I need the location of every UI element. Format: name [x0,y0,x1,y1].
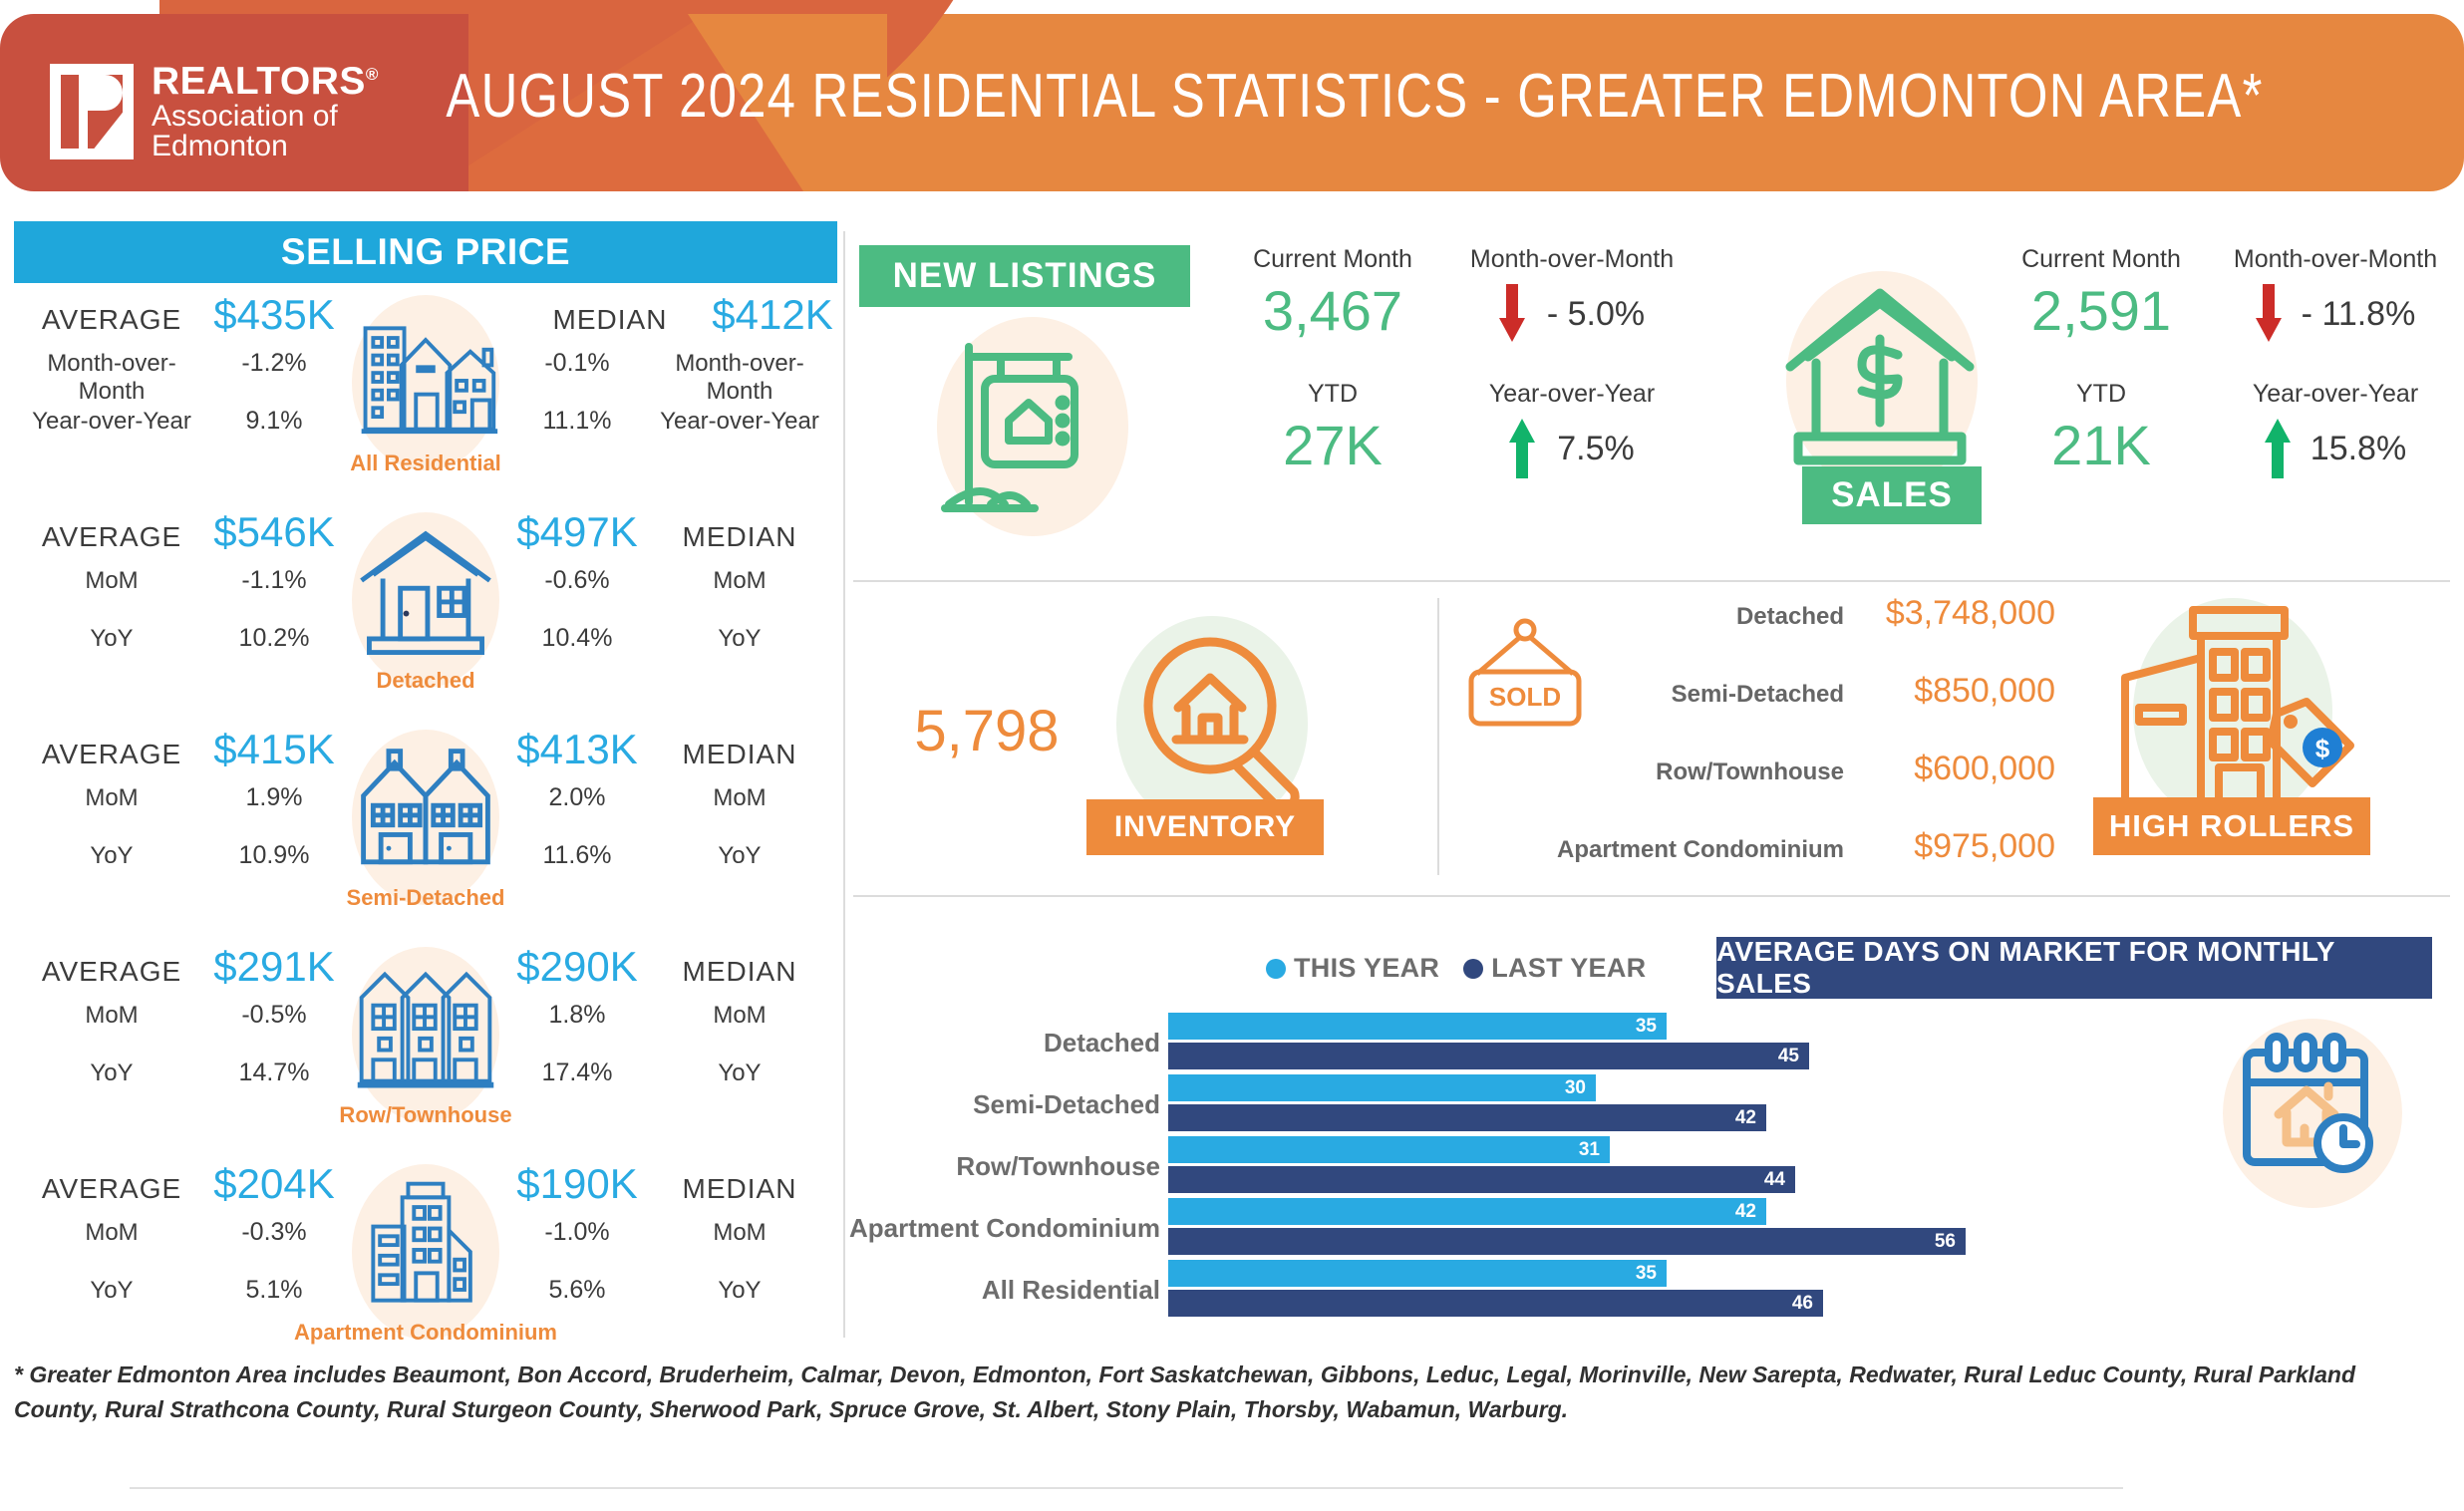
detached-house-icon [348,522,503,672]
logo-line-1: REALTORS [152,60,366,103]
new-listings-stats: Current Month 3,467 Month-over-Month - 5… [1218,245,1696,478]
new-listings-yoy-value: 7.5% [1557,430,1635,468]
average-yoy-label: YoY [14,842,209,870]
semi-detached-house-icon [348,740,503,889]
high-rollers-value: $3,748,000 [1844,594,2073,633]
median-yoy-value: 11.1% [512,407,642,436]
median-title: MEDIAN [642,521,837,553]
selling-price-panel: SELLING PRICE All Residen [14,221,837,1338]
median-mom-label: MoM [642,1219,837,1247]
apartment-building-icon [348,1174,503,1324]
median-yoy-label: YoY [642,1277,837,1305]
sales-mom-value: - 11.8% [2302,295,2416,334]
new-listings-mom-value: - 5.0% [1547,295,1645,334]
high-rollers-value: $600,000 [1844,750,2073,788]
bar-last-year: 46 [1168,1290,1823,1317]
average-mom-label: Month-over-Month [14,350,209,406]
median-column: MEDIAN$412K -0.1%Month-over-Month 11.1%Y… [508,291,837,464]
high-rollers-value: $850,000 [1844,672,2073,711]
inventory-badge: INVENTORY [1086,799,1324,855]
median-price: $190K [512,1160,642,1208]
average-mom-label: MoM [14,1002,209,1030]
median-yoy-label: Year-over-Year [642,408,837,436]
row-townhouse-icon [348,957,503,1106]
selling-price-row: Semi-Detached AVERAGE$415K MoM1.9% YoY10… [14,726,837,935]
median-mom-value: -0.1% [512,349,642,378]
chart-row: Detached 35 45 [853,1013,2149,1072]
average-mom-label: MoM [14,1219,209,1247]
average-column: AVERAGE$204K MoM-0.3% YoY5.1% [14,1160,343,1334]
page-header: REALTORS® Association of Edmonton AUGUST… [0,0,2464,191]
category-label: Row/Townhouse [339,1102,511,1128]
sales-ytd-value: 21K [1992,417,2211,475]
sales-current-month-value: 2,591 [1992,282,2211,341]
panel-divider [843,231,845,1338]
bar-last-year: 44 [1168,1166,1795,1193]
building-price-tag-icon: $ [2111,596,2360,817]
selling-price-heading: SELLING PRICE [14,221,837,283]
median-mom-label: Month-over-Month [642,350,837,406]
new-listings-current-month-value: 3,467 [1218,282,1447,341]
legend-item-this-year: THIS YEAR [1266,953,1439,984]
average-yoy-label: YoY [14,625,209,653]
median-mom-value: 1.8% [512,1001,642,1030]
average-price: $204K [209,1160,339,1208]
median-mom-label: MoM [642,567,837,595]
selling-price-row: Detached AVERAGE$546K MoM-1.1% YoY10.2% … [14,508,837,718]
high-rollers-row: Semi-Detached $850,000 [1495,672,2073,750]
median-mom-value: 2.0% [512,783,642,812]
median-yoy-value: 11.6% [512,841,642,870]
average-price: $291K [209,943,339,991]
average-title: AVERAGE [14,956,209,988]
legend-label: THIS YEAR [1294,953,1439,984]
selling-price-row: Row/Townhouse AVERAGE$291K MoM-0.5% YoY1… [14,943,837,1152]
high-rollers-label: Semi-Detached [1505,681,1844,709]
average-yoy-value: 10.2% [209,624,339,653]
inventory-value: 5,798 [857,698,1116,764]
average-yoy-value: 14.7% [209,1058,339,1087]
apartment-and-houses-icon [348,305,503,454]
bar-this-year: 42 [1168,1198,1766,1225]
svg-text:$: $ [2315,734,2330,763]
average-mom-value: -1.2% [209,349,339,378]
average-mom-value: -1.1% [209,566,339,595]
legend-dot-icon [1463,959,1483,979]
median-mom-value: -1.0% [512,1218,642,1247]
category-label: Detached [376,668,474,694]
days-on-market-chart: Detached 35 45 Semi-Detached 30 42 Row/T… [853,1013,2149,1312]
chart-title: AVERAGE DAYS ON MARKET FOR MONTHLY SALES [1716,937,2432,999]
average-yoy-value: 9.1% [209,407,339,436]
median-yoy-value: 5.6% [512,1276,642,1305]
average-mom-value: -0.5% [209,1001,339,1030]
chart-category-label: Detached [853,1013,1160,1072]
house-with-dollar-icon [1774,281,1986,480]
realtors-association-logo: REALTORS® Association of Edmonton [50,62,379,162]
new-listings-yoy-label: Year-over-Year [1447,380,1696,409]
high-rollers-row: Detached $3,748,000 [1495,594,2073,672]
selling-price-row: Apartment Condominium AVERAGE$204K MoM-0… [14,1160,837,1369]
section-divider [853,580,2450,582]
new-listings-current-month-label: Current Month [1218,245,1447,274]
average-column: AVERAGE$435K Month-over-Month-1.2% Year-… [14,291,343,464]
average-mom-value: 1.9% [209,783,339,812]
new-listings-ytd-value: 27K [1218,417,1447,475]
chart-category-label: Apartment Condominium [853,1198,1160,1258]
section-divider [1437,598,1439,875]
sales-stats: Current Month 2,591 Month-over-Month - 1… [1992,245,2460,478]
new-listings-mom-label: Month-over-Month [1447,245,1696,274]
chart-legend: THIS YEAR LAST YEAR [1266,953,1646,984]
bar-this-year: 35 [1168,1260,1667,1287]
average-mom-label: MoM [14,567,209,595]
average-yoy-label: YoY [14,1059,209,1087]
median-yoy-label: YoY [642,625,837,653]
average-column: AVERAGE$291K MoM-0.5% YoY14.7% [14,943,343,1116]
bar-this-year: 30 [1168,1074,1596,1101]
median-title: MEDIAN [512,304,708,336]
average-title: AVERAGE [14,1173,209,1205]
sales-badge: SALES [1802,466,1982,524]
bar-last-year: 56 [1168,1228,1966,1255]
average-mom-value: -0.3% [209,1218,339,1247]
high-rollers-row: Row/Townhouse $600,000 [1495,750,2073,827]
average-title: AVERAGE [14,521,209,553]
average-yoy-value: 10.9% [209,841,339,870]
median-title: MEDIAN [642,1173,837,1205]
section-divider [853,895,2450,897]
house-magnifier-icon [1126,628,1316,817]
for-sale-sign-icon [939,329,1128,524]
high-rollers-value: $975,000 [1844,827,2073,866]
average-mom-label: MoM [14,784,209,812]
median-price: $290K [512,943,642,991]
median-title: MEDIAN [642,956,837,988]
average-column: AVERAGE$415K MoM1.9% YoY10.9% [14,726,343,899]
median-price: $413K [512,726,642,773]
arrow-down-icon [2256,284,2282,344]
chart-row: All Residential 35 46 [853,1260,2149,1320]
median-yoy-value: 10.4% [512,624,642,653]
legend-item-last-year: LAST YEAR [1463,953,1646,984]
median-column: $413KMEDIAN 2.0%MoM 11.6%YoY [508,726,837,899]
legend-label: LAST YEAR [1491,953,1646,984]
arrow-down-icon [1499,284,1525,344]
chart-row: Apartment Condominium 42 56 [853,1198,2149,1258]
average-column: AVERAGE$546K MoM-1.1% YoY10.2% [14,508,343,682]
arrow-up-icon [1509,419,1535,478]
chart-row: Row/Townhouse 31 44 [853,1136,2149,1196]
high-rollers-label: Detached [1505,603,1844,631]
high-rollers-label: Apartment Condominium [1505,836,1844,864]
median-mom-label: MoM [642,784,837,812]
median-yoy-label: YoY [642,842,837,870]
high-rollers-badge: HIGH ROLLERS [2093,797,2370,855]
bar-last-year: 42 [1168,1104,1766,1131]
category-label: All Residential [350,451,501,476]
new-listings-badge: NEW LISTINGS [859,245,1190,307]
category-label: Semi-Detached [347,885,505,911]
arrow-up-icon [2265,419,2291,478]
median-column: $190KMEDIAN -1.0%MoM 5.6%YoY [508,1160,837,1334]
median-price: $497K [512,508,642,556]
average-yoy-value: 5.1% [209,1276,339,1305]
median-yoy-value: 17.4% [512,1058,642,1087]
page-title: AUGUST 2024 RESIDENTIAL STATISTICS - GRE… [221,0,2242,191]
median-column: $290KMEDIAN 1.8%MoM 17.4%YoY [508,943,837,1116]
median-title: MEDIAN [642,739,837,770]
chart-category-label: Semi-Detached [853,1074,1160,1134]
selling-price-row: All Residential AVERAGE$435K Month-over-… [14,291,837,500]
sales-mom-label: Month-over-Month [2211,245,2460,274]
logo-line-3: Edmonton [152,132,379,162]
average-title: AVERAGE [14,304,209,336]
average-price: $546K [209,508,339,556]
average-yoy-label: Year-over-Year [14,408,209,436]
sales-current-month-label: Current Month [1992,245,2211,274]
footer-rule [130,1487,2123,1489]
new-listings-ytd-label: YTD [1218,380,1447,409]
median-yoy-label: YoY [642,1059,837,1087]
median-mom-label: MoM [642,1002,837,1030]
high-rollers-list: Detached $3,748,000 Semi-Detached $850,0… [1495,594,2073,905]
high-rollers-row: Apartment Condominium $975,000 [1495,827,2073,905]
high-rollers-label: Row/Townhouse [1505,758,1844,786]
average-title: AVERAGE [14,739,209,770]
average-yoy-label: YoY [14,1277,209,1305]
sales-yoy-value: 15.8% [2310,430,2406,468]
median-column: $497KMEDIAN -0.6%MoM 10.4%YoY [508,508,837,682]
median-mom-value: -0.6% [512,566,642,595]
logo-line-2: Association of [152,102,379,133]
logo-r-mark-icon [50,64,134,159]
chart-row: Semi-Detached 30 42 [853,1074,2149,1134]
chart-category-label: Row/Townhouse [853,1136,1160,1196]
bar-this-year: 35 [1168,1013,1667,1040]
calendar-clock-icon [2217,1019,2416,1208]
average-price: $415K [209,726,339,773]
legend-dot-icon [1266,959,1286,979]
sales-yoy-label: Year-over-Year [2211,380,2460,409]
footnote: * Greater Edmonton Area includes Beaumon… [14,1358,2446,1426]
chart-category-label: All Residential [853,1260,1160,1320]
bar-this-year: 31 [1168,1136,1610,1163]
logo-registered-mark: ® [366,65,379,84]
average-price: $435K [209,291,339,339]
bar-last-year: 45 [1168,1043,1809,1069]
median-price: $412K [708,291,837,339]
sales-ytd-label: YTD [1992,380,2211,409]
